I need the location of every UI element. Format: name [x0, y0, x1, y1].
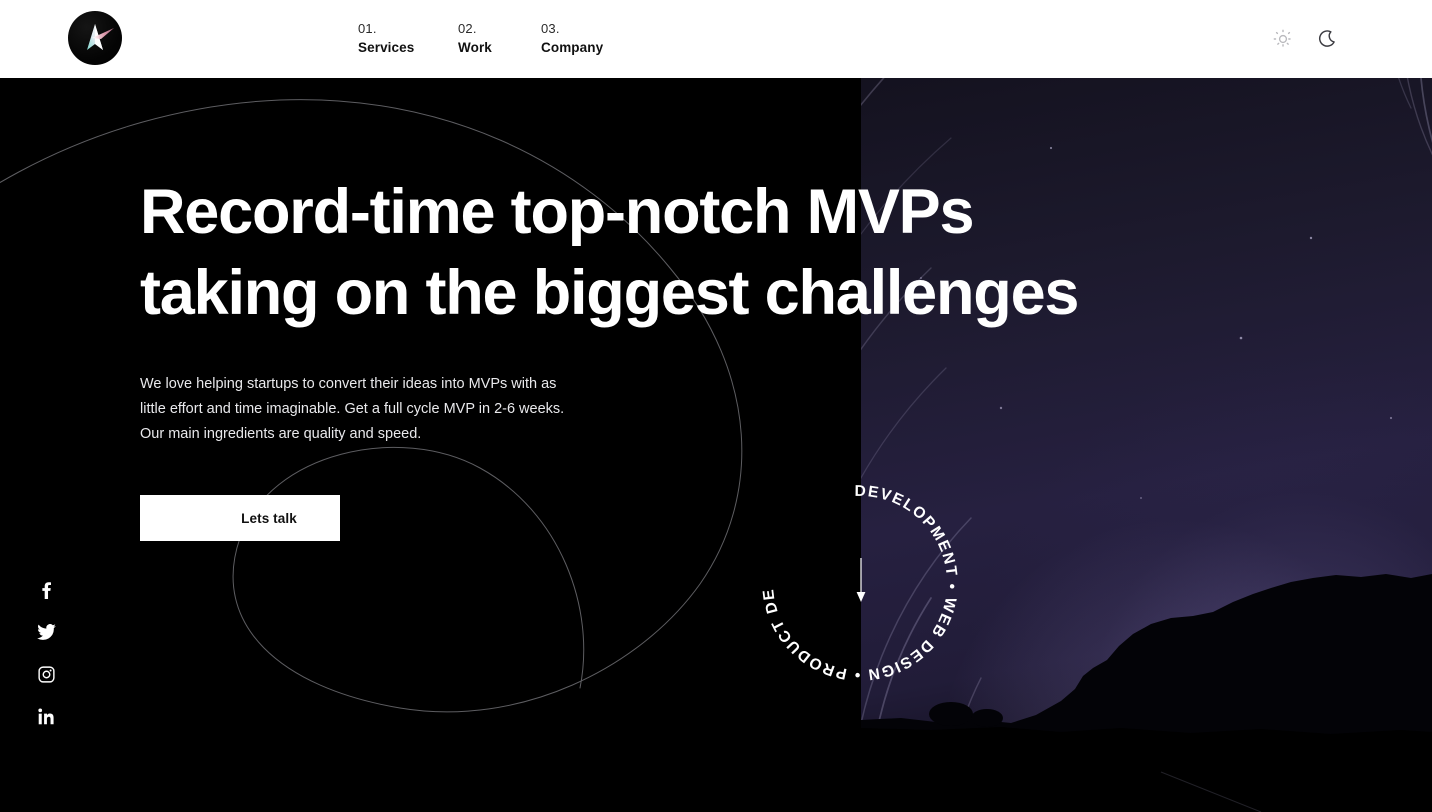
social-link-instagram[interactable]: [34, 662, 58, 686]
theme-toggle-group: [1270, 26, 1340, 52]
hero-paragraph: We love helping startups to convert thei…: [140, 372, 578, 447]
moon-icon: [1317, 29, 1337, 49]
hero-section: Record-time top-notch MVPs taking on the…: [0, 78, 1432, 812]
instagram-icon: [38, 666, 55, 683]
social-link-linkedin[interactable]: [34, 704, 58, 728]
dark-mode-button[interactable]: [1314, 26, 1340, 52]
nav-item-company[interactable]: 03. Company: [541, 20, 603, 57]
nav-item-label: Work: [458, 38, 492, 57]
nav-item-services[interactable]: 01. Services: [358, 20, 414, 57]
social-link-twitter[interactable]: [34, 620, 58, 644]
logo-a-mark-icon: [68, 11, 122, 65]
nav-item-number: 02.: [458, 20, 492, 38]
social-links-rail: [34, 578, 58, 728]
scroll-down-arrow[interactable]: [855, 558, 867, 603]
hero-headline: Record-time top-notch MVPs taking on the…: [140, 172, 1140, 334]
nav-item-number: 01.: [358, 20, 414, 38]
badge-circular-text: DEVELOPMENT • WEB DESIGN • PRODUCT DESIG…: [744, 461, 960, 683]
headline-line-1: Record-time top-notch MVPs: [140, 177, 973, 247]
nav-item-label: Services: [358, 38, 414, 57]
badge-textpath: DEVELOPMENT • WEB DESIGN • PRODUCT DESIG…: [744, 461, 960, 683]
headline-line-2: taking on the biggest challenges: [140, 253, 1140, 334]
nav-item-label: Company: [541, 38, 603, 57]
arrow-down-icon: [855, 558, 867, 603]
nav-item-number: 03.: [541, 20, 603, 38]
nav-item-work[interactable]: 02. Work: [458, 20, 492, 57]
twitter-icon: [37, 624, 56, 641]
facebook-icon: [39, 581, 54, 599]
brand-logo[interactable]: [68, 11, 122, 65]
lets-talk-button[interactable]: Lets talk: [140, 495, 340, 541]
social-link-facebook[interactable]: [34, 578, 58, 602]
logo-badge: [68, 11, 122, 65]
sun-icon: [1273, 29, 1293, 49]
site-header: 01. Services 02. Work 03. Company: [0, 0, 1432, 78]
light-mode-button[interactable]: [1270, 26, 1296, 52]
linkedin-icon: [38, 708, 55, 725]
